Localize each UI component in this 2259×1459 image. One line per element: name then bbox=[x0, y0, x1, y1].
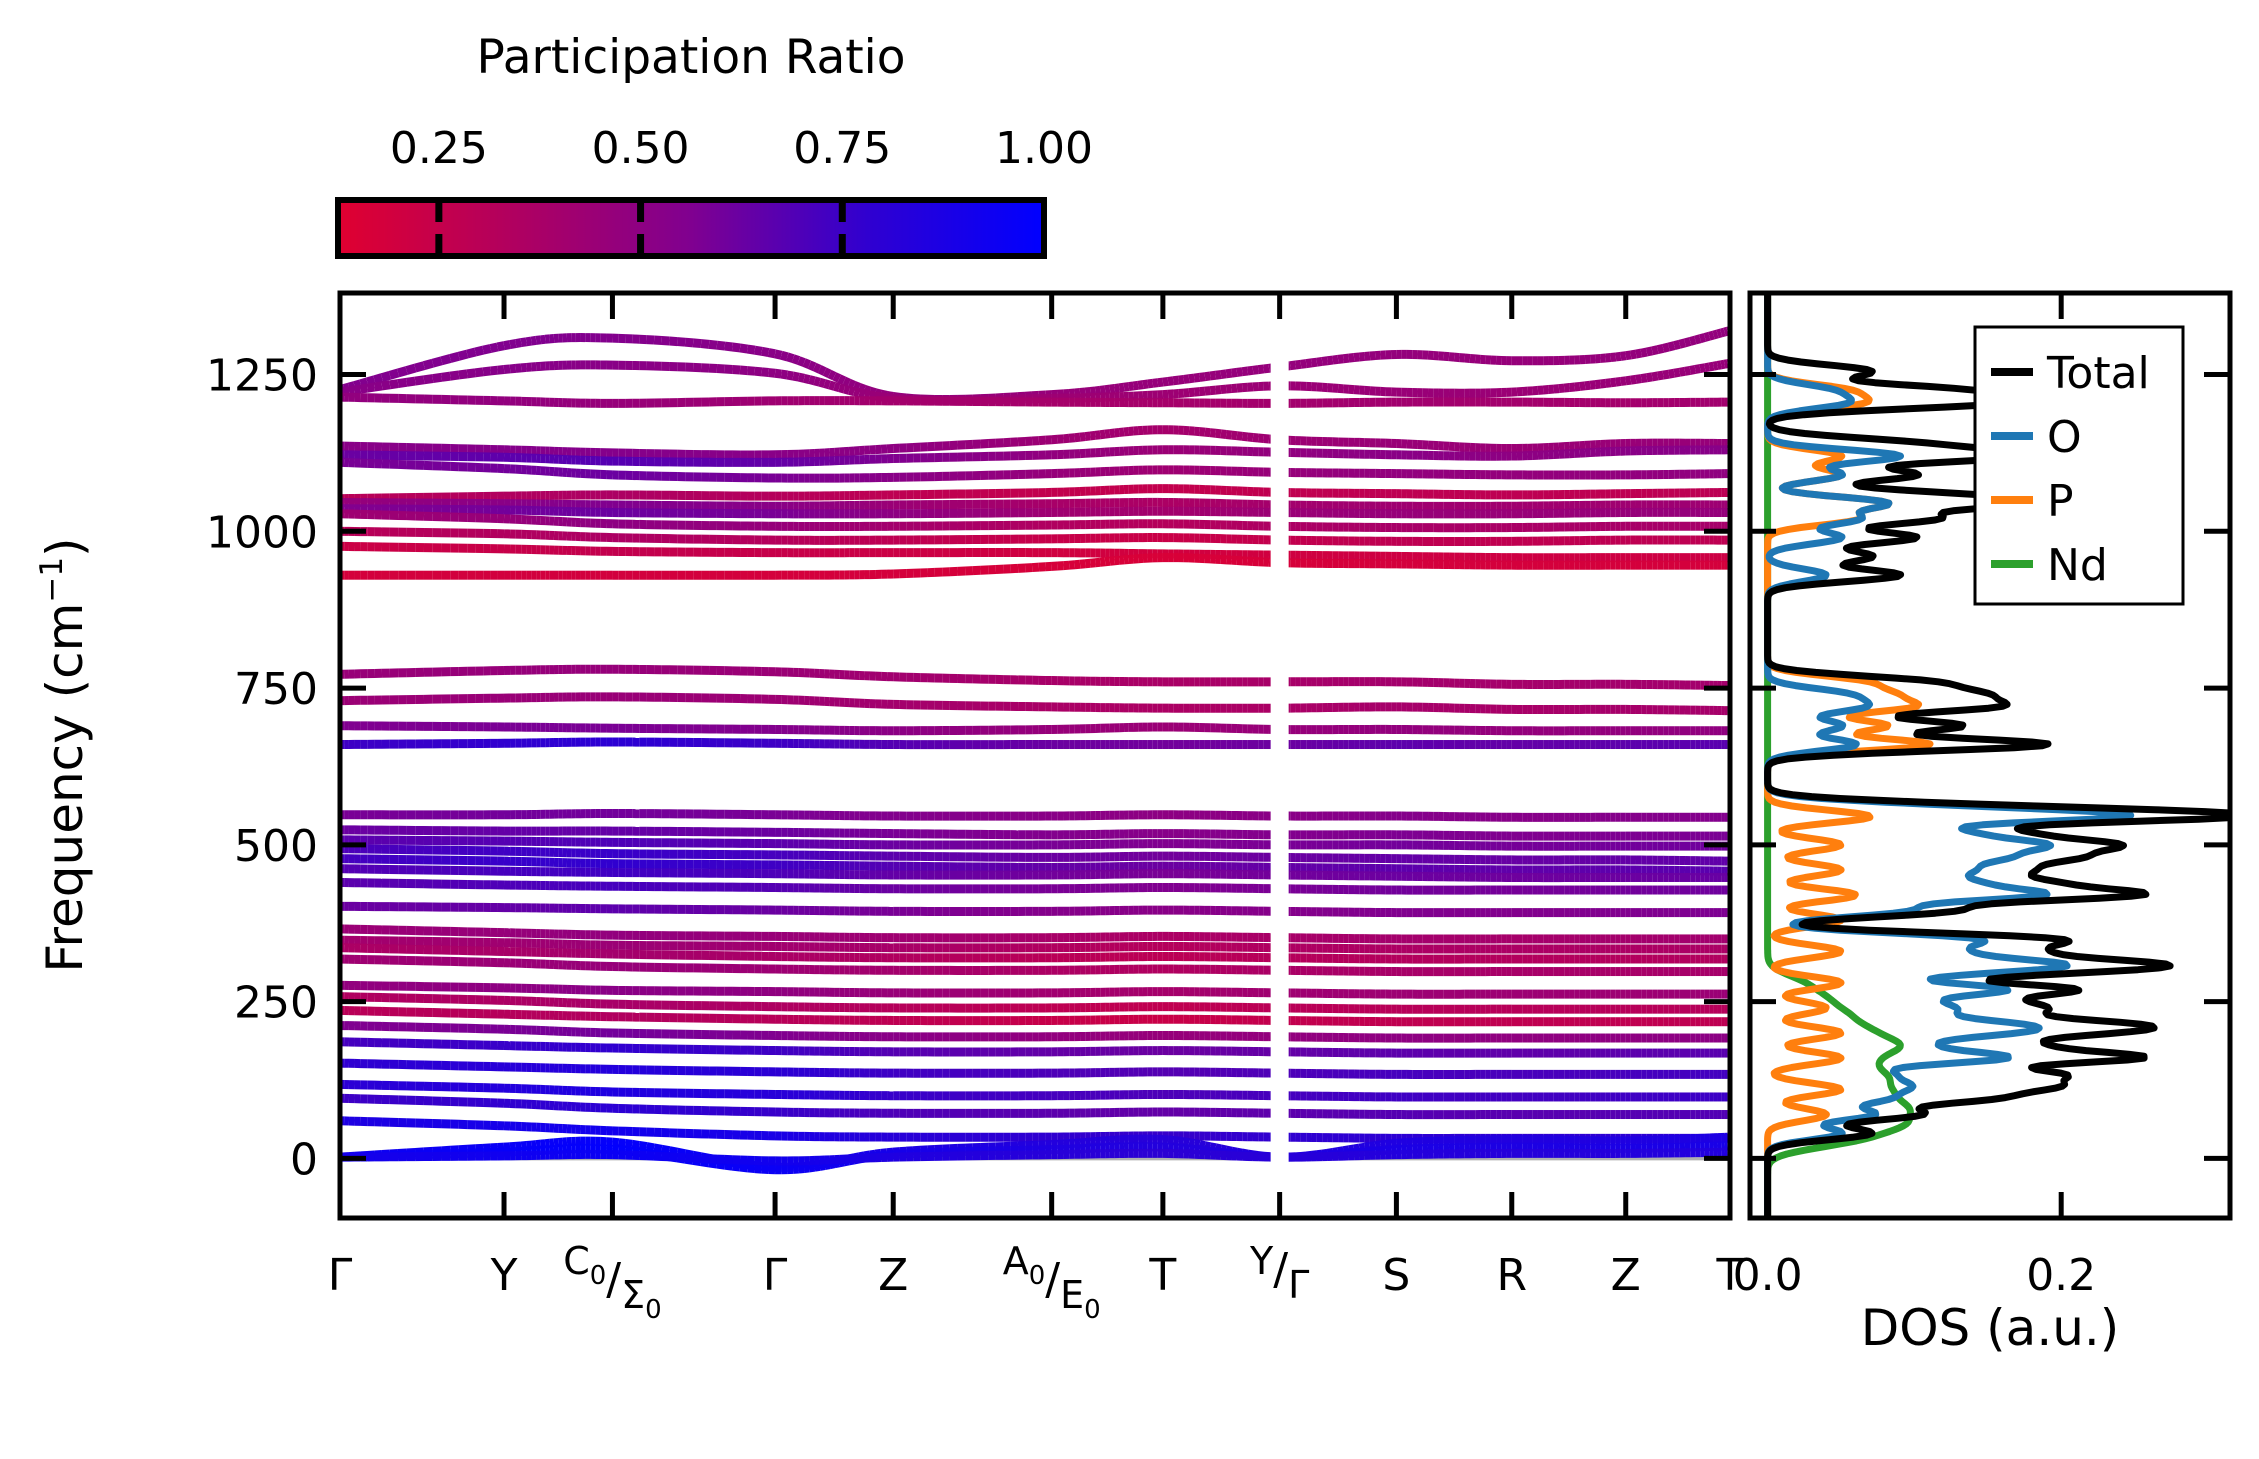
band-segment bbox=[834, 386, 839, 387]
band-segment bbox=[491, 370, 498, 371]
band-segment bbox=[1306, 363, 1311, 364]
band-segment bbox=[1115, 388, 1120, 389]
band-segment bbox=[1205, 432, 1210, 433]
band-segment bbox=[504, 369, 510, 370]
band-segment bbox=[1322, 361, 1327, 362]
band-segment bbox=[1138, 385, 1143, 386]
band-segment bbox=[717, 345, 725, 346]
band-segment bbox=[531, 340, 536, 341]
band-segment bbox=[467, 352, 475, 354]
band-segment bbox=[793, 376, 799, 377]
band-segment bbox=[849, 383, 854, 385]
band-segment bbox=[1631, 379, 1636, 380]
band-segment bbox=[804, 378, 809, 379]
band-segment bbox=[1080, 392, 1085, 393]
band-segment bbox=[1110, 389, 1115, 390]
colorbar-title: Participation Ratio bbox=[476, 30, 905, 85]
band-segment bbox=[1153, 383, 1158, 384]
band-segment bbox=[762, 372, 769, 373]
band-segment bbox=[787, 357, 793, 359]
band-segment bbox=[1158, 382, 1163, 383]
band-segment bbox=[424, 379, 433, 380]
band-segment bbox=[1221, 374, 1226, 375]
band-segment bbox=[459, 374, 467, 375]
band-segment bbox=[1216, 390, 1221, 391]
band-segment bbox=[1248, 370, 1253, 371]
band-segment bbox=[1601, 383, 1606, 384]
band-segment bbox=[747, 371, 754, 372]
band-segment bbox=[1621, 381, 1626, 382]
band-segment bbox=[1718, 365, 1722, 366]
band-segment bbox=[1095, 562, 1100, 563]
band-segment bbox=[1194, 377, 1199, 378]
band-segment bbox=[516, 343, 521, 344]
band-segment bbox=[450, 375, 459, 376]
band-segment bbox=[1237, 436, 1242, 437]
band-segment bbox=[1080, 437, 1085, 438]
band-segment bbox=[1626, 355, 1631, 356]
band-segment bbox=[433, 361, 442, 363]
band-segment bbox=[498, 370, 504, 371]
band-segment bbox=[809, 365, 814, 367]
band-segment bbox=[1700, 368, 1705, 369]
band-segment bbox=[1674, 344, 1679, 345]
band-segment bbox=[830, 374, 835, 376]
band-segment bbox=[1626, 380, 1631, 381]
band-segment bbox=[1115, 432, 1120, 433]
colorbar-tick-label-2: 0.75 bbox=[793, 123, 891, 174]
band-segment bbox=[1242, 436, 1247, 437]
band-segment bbox=[1652, 350, 1658, 351]
band-segment bbox=[407, 381, 416, 382]
band-segment bbox=[415, 366, 424, 368]
band-segment bbox=[1674, 372, 1679, 373]
band-segment bbox=[1647, 351, 1652, 352]
band-segment bbox=[799, 361, 804, 363]
band-segment bbox=[1690, 340, 1695, 341]
band-segment bbox=[1119, 432, 1124, 433]
band-segment bbox=[1264, 368, 1269, 369]
colorbar-tick-label-0: 0.25 bbox=[390, 123, 488, 174]
band-segment bbox=[815, 367, 820, 369]
band-segment bbox=[1709, 366, 1713, 367]
band-segment bbox=[467, 373, 475, 374]
band-segment bbox=[521, 342, 526, 343]
band-segment bbox=[1354, 357, 1359, 358]
band-segment bbox=[374, 386, 382, 387]
band-segment bbox=[662, 340, 670, 341]
band-segment bbox=[1119, 387, 1124, 388]
band-segment bbox=[1652, 376, 1658, 377]
band-segment bbox=[1641, 352, 1646, 353]
band-segment bbox=[1611, 357, 1616, 358]
band-segment bbox=[1143, 384, 1148, 385]
band-segment bbox=[1189, 378, 1194, 379]
band-segment bbox=[415, 380, 424, 381]
band-segment bbox=[536, 340, 541, 341]
band-segment bbox=[1680, 371, 1685, 372]
band-segment bbox=[820, 382, 825, 383]
band-segment bbox=[825, 372, 830, 374]
band-segment bbox=[407, 368, 416, 370]
band-segment bbox=[839, 379, 844, 381]
band-segment bbox=[1237, 372, 1242, 373]
band-segment bbox=[1258, 369, 1263, 370]
band-segment bbox=[1580, 386, 1585, 387]
band-segment bbox=[781, 355, 787, 357]
band-segment bbox=[1100, 390, 1105, 391]
band-segment bbox=[1685, 370, 1690, 371]
band-segment bbox=[382, 385, 390, 386]
band-segment bbox=[450, 356, 459, 358]
band-segment bbox=[1090, 563, 1095, 564]
band-segment bbox=[1179, 379, 1184, 380]
band-segment bbox=[1105, 389, 1110, 390]
band-segment bbox=[1205, 376, 1210, 377]
band-segment bbox=[367, 380, 374, 382]
band-segment bbox=[1216, 375, 1221, 376]
band-segment bbox=[1669, 373, 1674, 374]
band-segment bbox=[526, 341, 531, 342]
band-segment bbox=[1210, 375, 1215, 376]
band-segment bbox=[433, 377, 442, 378]
band-segment bbox=[483, 348, 490, 350]
band-segment bbox=[1242, 371, 1247, 372]
band-segment bbox=[1714, 334, 1718, 335]
band-segment bbox=[1685, 341, 1690, 342]
band-segment bbox=[504, 345, 510, 346]
band-segment bbox=[1611, 382, 1616, 383]
band-segment bbox=[1210, 390, 1215, 391]
band-segment bbox=[799, 377, 804, 378]
band-segment bbox=[1200, 432, 1205, 433]
band-segment bbox=[1090, 391, 1095, 392]
band-segment bbox=[849, 390, 854, 391]
band-segment bbox=[1200, 391, 1205, 392]
band-segment bbox=[1095, 390, 1100, 391]
band-segment bbox=[709, 344, 717, 345]
band-segment bbox=[854, 392, 859, 393]
band-segment bbox=[1663, 374, 1669, 375]
band-segment bbox=[755, 350, 762, 351]
band-segment bbox=[740, 348, 747, 349]
band-segment bbox=[740, 370, 747, 371]
band-segment bbox=[1226, 434, 1231, 435]
band-segment bbox=[839, 388, 844, 389]
band-segment bbox=[374, 378, 382, 380]
band-segment bbox=[442, 376, 451, 377]
band-segment bbox=[1621, 356, 1626, 357]
band-segment bbox=[1669, 346, 1674, 347]
band-segment bbox=[809, 380, 814, 381]
figure-root: Participation Ratio 0.250.500.751.00 025… bbox=[0, 0, 2259, 1455]
band-segment bbox=[1695, 369, 1700, 370]
band-segment bbox=[1705, 367, 1709, 368]
band-segment bbox=[685, 342, 693, 343]
band-segment bbox=[1724, 331, 1727, 332]
band-segment bbox=[1705, 336, 1709, 337]
band-segment bbox=[815, 381, 820, 382]
band-segment bbox=[475, 372, 483, 373]
band-segment bbox=[825, 384, 830, 385]
band-segment bbox=[1124, 387, 1129, 388]
colorbar-gradient bbox=[338, 200, 1044, 256]
band-segment bbox=[1616, 356, 1621, 357]
band-segment bbox=[1695, 339, 1700, 340]
band-segment bbox=[1343, 358, 1348, 359]
band-segment bbox=[755, 371, 762, 372]
band-segment bbox=[1095, 435, 1100, 436]
band-segment bbox=[834, 376, 839, 378]
band-segment bbox=[1349, 358, 1354, 359]
band-segment bbox=[1647, 377, 1652, 378]
band-segment bbox=[349, 390, 355, 391]
band-segment bbox=[1359, 356, 1364, 357]
band-segment bbox=[1296, 364, 1301, 365]
band-segment bbox=[769, 353, 776, 354]
band-segment bbox=[1173, 380, 1178, 381]
band-segment bbox=[1680, 343, 1685, 344]
band-segment bbox=[1564, 388, 1569, 389]
band-segment bbox=[1559, 388, 1564, 389]
band-segment bbox=[1690, 369, 1695, 370]
band-segment bbox=[483, 371, 490, 372]
band-segment bbox=[775, 373, 781, 374]
band-segment bbox=[1636, 379, 1641, 380]
phonon-band-dos-figure: Participation Ratio 0.250.500.751.00 025… bbox=[0, 0, 2259, 1455]
band-segment bbox=[1184, 379, 1189, 380]
band-segment bbox=[669, 341, 677, 342]
band-segment bbox=[475, 350, 483, 352]
band-segment bbox=[1168, 381, 1173, 382]
band-segment bbox=[844, 381, 849, 383]
band-segment bbox=[1232, 372, 1237, 373]
band-segment bbox=[820, 369, 825, 371]
band-segment bbox=[1085, 391, 1090, 392]
band-segment bbox=[1258, 438, 1263, 439]
band-segment bbox=[1100, 434, 1105, 435]
band-segment bbox=[1338, 359, 1343, 360]
band-segment bbox=[1232, 435, 1237, 436]
band-segment bbox=[1133, 385, 1138, 386]
band-segment bbox=[1105, 434, 1110, 435]
band-segment bbox=[865, 394, 870, 395]
band-segment bbox=[693, 343, 701, 344]
band-segment bbox=[1333, 359, 1338, 360]
band-segment bbox=[367, 387, 374, 388]
band-segment bbox=[1658, 348, 1664, 349]
band-segment bbox=[1110, 433, 1115, 434]
band-segment bbox=[1606, 383, 1611, 384]
colorbar-tick-label-3: 1.00 bbox=[995, 123, 1093, 174]
band-segment bbox=[775, 354, 781, 355]
band-segment bbox=[442, 358, 451, 360]
band-segment bbox=[1253, 437, 1258, 438]
band-segment bbox=[1616, 381, 1621, 382]
band-segment bbox=[1714, 365, 1718, 366]
band-segment bbox=[1317, 361, 1322, 362]
colorbar-group: Participation Ratio 0.250.500.751.00 bbox=[338, 30, 1093, 256]
band-segment bbox=[769, 373, 776, 374]
band-segment bbox=[1163, 381, 1168, 382]
band-segment bbox=[1075, 437, 1080, 438]
band-segment bbox=[1569, 387, 1574, 388]
band-segment bbox=[1129, 386, 1134, 387]
band-segment bbox=[1200, 377, 1205, 378]
band-segment bbox=[1221, 434, 1226, 435]
band-segment bbox=[793, 359, 799, 361]
band-segment bbox=[1663, 347, 1669, 348]
band-segment bbox=[725, 346, 733, 347]
band-segment bbox=[747, 349, 754, 350]
band-segment bbox=[844, 389, 849, 390]
band-segment bbox=[510, 344, 516, 345]
band-segment bbox=[1226, 373, 1231, 374]
colorbar-tick-label-1: 0.50 bbox=[592, 123, 690, 174]
phonon-bands bbox=[340, 331, 1730, 1170]
band-segment bbox=[1221, 389, 1226, 390]
band-segment bbox=[787, 375, 793, 376]
band-segment bbox=[1658, 375, 1664, 376]
band-segment bbox=[859, 393, 864, 394]
band-segment bbox=[732, 347, 740, 348]
band-segment bbox=[1069, 438, 1074, 439]
band-segment bbox=[1248, 437, 1253, 438]
band-segment bbox=[1301, 364, 1306, 365]
band-segment bbox=[361, 382, 368, 384]
band-segment bbox=[762, 351, 769, 352]
band-segment bbox=[1210, 433, 1215, 434]
band-segment bbox=[1721, 332, 1724, 333]
band-segment bbox=[1064, 438, 1070, 439]
band-segment bbox=[1290, 365, 1295, 366]
band-segment bbox=[541, 339, 546, 340]
band-segment bbox=[804, 363, 809, 365]
band-segment bbox=[1205, 391, 1210, 392]
band-segment bbox=[1090, 435, 1095, 436]
band-segment bbox=[781, 374, 787, 375]
band-segment bbox=[382, 375, 390, 377]
band-segment bbox=[1709, 335, 1713, 336]
band-segment bbox=[701, 344, 709, 345]
band-segment bbox=[1636, 353, 1641, 354]
band-segment bbox=[870, 395, 876, 396]
band-segment bbox=[830, 385, 835, 386]
band-segment bbox=[361, 388, 368, 389]
colorbar-tick-labels: 0.250.500.751.00 bbox=[390, 123, 1093, 174]
band-segment bbox=[459, 354, 467, 356]
band-segment bbox=[677, 342, 685, 343]
band-segment bbox=[732, 369, 740, 370]
band-segment bbox=[1085, 436, 1090, 437]
band-segment bbox=[1312, 362, 1317, 363]
band-segment bbox=[1216, 433, 1221, 434]
band-segment bbox=[1700, 337, 1705, 338]
band-segment bbox=[354, 389, 360, 390]
band-segment bbox=[1721, 364, 1724, 365]
band-segment bbox=[398, 371, 406, 373]
band-segment bbox=[491, 347, 498, 349]
band-segment bbox=[1253, 370, 1258, 371]
band-segment bbox=[424, 363, 433, 365]
band-segment bbox=[510, 368, 516, 369]
band-segment bbox=[1595, 384, 1600, 385]
band-segment bbox=[1194, 392, 1199, 393]
band-segment bbox=[1575, 386, 1580, 387]
band-segment bbox=[854, 385, 859, 387]
band-segment bbox=[1631, 354, 1636, 355]
band-segment bbox=[498, 346, 504, 347]
band-segment bbox=[1585, 385, 1590, 386]
band-structure-panel: 025050075010001250 ΓYC0/Σ0ΓZA0/E0TY/ΓSRZ… bbox=[34, 293, 1744, 1325]
band-segment bbox=[1724, 364, 1727, 365]
band-segment bbox=[1641, 378, 1646, 379]
band-segment bbox=[1327, 360, 1332, 361]
band-segment bbox=[398, 382, 406, 383]
band-segment bbox=[1148, 383, 1153, 384]
band-segment bbox=[390, 384, 398, 385]
band-segment bbox=[1590, 385, 1595, 386]
band-segment bbox=[344, 391, 349, 392]
band-segment bbox=[1718, 333, 1722, 334]
band-segment bbox=[390, 373, 398, 375]
